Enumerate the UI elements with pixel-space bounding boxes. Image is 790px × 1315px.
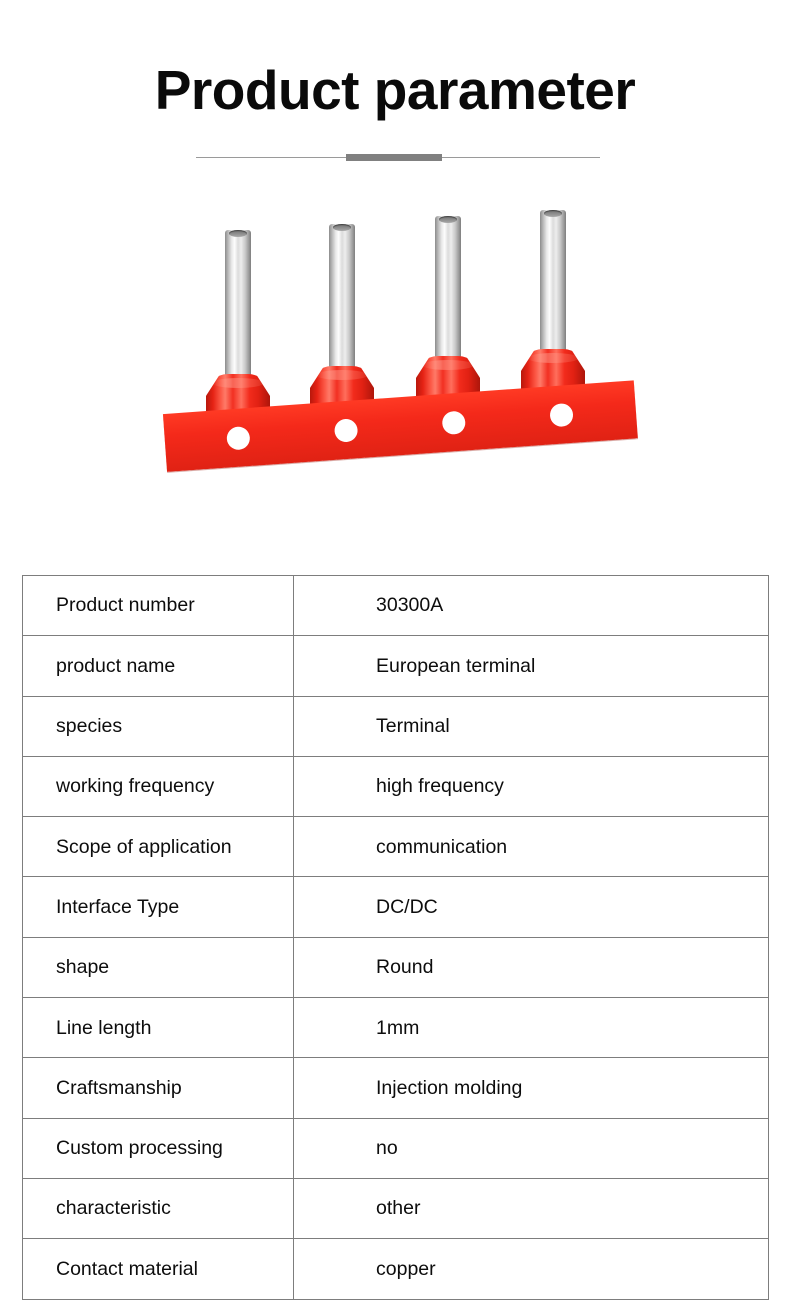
terminal-pin-icon: [540, 210, 566, 357]
terminal-pin-bore-icon: [544, 210, 562, 217]
spec-value: 30300A: [294, 576, 769, 636]
strip-hole-icon: [549, 403, 574, 428]
spec-value: 1mm: [294, 998, 769, 1058]
spec-value: DC/DC: [294, 877, 769, 937]
page-header: Product parameter: [0, 0, 790, 185]
strip-hole-icon: [442, 411, 467, 436]
terminal-pin-bore-icon: [439, 216, 457, 223]
table-row: Craftsmanship Injection molding: [23, 1058, 769, 1118]
spec-label: Scope of application: [23, 817, 294, 877]
table-row: product name European terminal: [23, 636, 769, 696]
spec-value: high frequency: [294, 756, 769, 816]
table-row: working frequency high frequency: [23, 756, 769, 816]
table-row: Custom processing no: [23, 1118, 769, 1178]
terminal-pin-icon: [329, 224, 355, 374]
table-row: Interface Type DC/DC: [23, 877, 769, 937]
spec-value: Injection molding: [294, 1058, 769, 1118]
spec-label: shape: [23, 937, 294, 997]
spec-value: no: [294, 1118, 769, 1178]
spec-value: Terminal: [294, 696, 769, 756]
spec-value: European terminal: [294, 636, 769, 696]
spec-label: species: [23, 696, 294, 756]
table-row: Contact material copper: [23, 1239, 769, 1299]
spec-value: Round: [294, 937, 769, 997]
title-divider: [196, 153, 600, 163]
spec-label: characteristic: [23, 1178, 294, 1238]
table-row: characteristic other: [23, 1178, 769, 1238]
spec-value: other: [294, 1178, 769, 1238]
specs-table-body: Product number 30300A product name Europ…: [23, 576, 769, 1300]
table-row: shape Round: [23, 937, 769, 997]
page-title: Product parameter: [0, 57, 790, 123]
strip-hole-icon: [226, 426, 251, 451]
spec-label: Interface Type: [23, 877, 294, 937]
spec-value: copper: [294, 1239, 769, 1299]
product-image-stage: [0, 196, 790, 526]
specs-table: Product number 30300A product name Europ…: [22, 575, 769, 1300]
specs-table-container: Product number 30300A product name Europ…: [22, 575, 768, 1300]
table-row: species Terminal: [23, 696, 769, 756]
spec-label: Product number: [23, 576, 294, 636]
table-row: Scope of application communication: [23, 817, 769, 877]
spec-label: Craftsmanship: [23, 1058, 294, 1118]
terminal-pin-icon: [435, 216, 461, 364]
terminal-pin-bore-icon: [333, 224, 351, 231]
spec-label: Custom processing: [23, 1118, 294, 1178]
spec-label: working frequency: [23, 756, 294, 816]
divider-accent-bar: [346, 154, 442, 161]
terminal-pin-bore-icon: [229, 230, 247, 237]
strip-hole-icon: [334, 418, 359, 443]
spec-label: Contact material: [23, 1239, 294, 1299]
spec-label: product name: [23, 636, 294, 696]
table-row: Line length 1mm: [23, 998, 769, 1058]
spec-value: communication: [294, 817, 769, 877]
terminal-pin-icon: [225, 230, 251, 382]
table-row: Product number 30300A: [23, 576, 769, 636]
spec-label: Line length: [23, 998, 294, 1058]
product-image: [0, 196, 790, 526]
